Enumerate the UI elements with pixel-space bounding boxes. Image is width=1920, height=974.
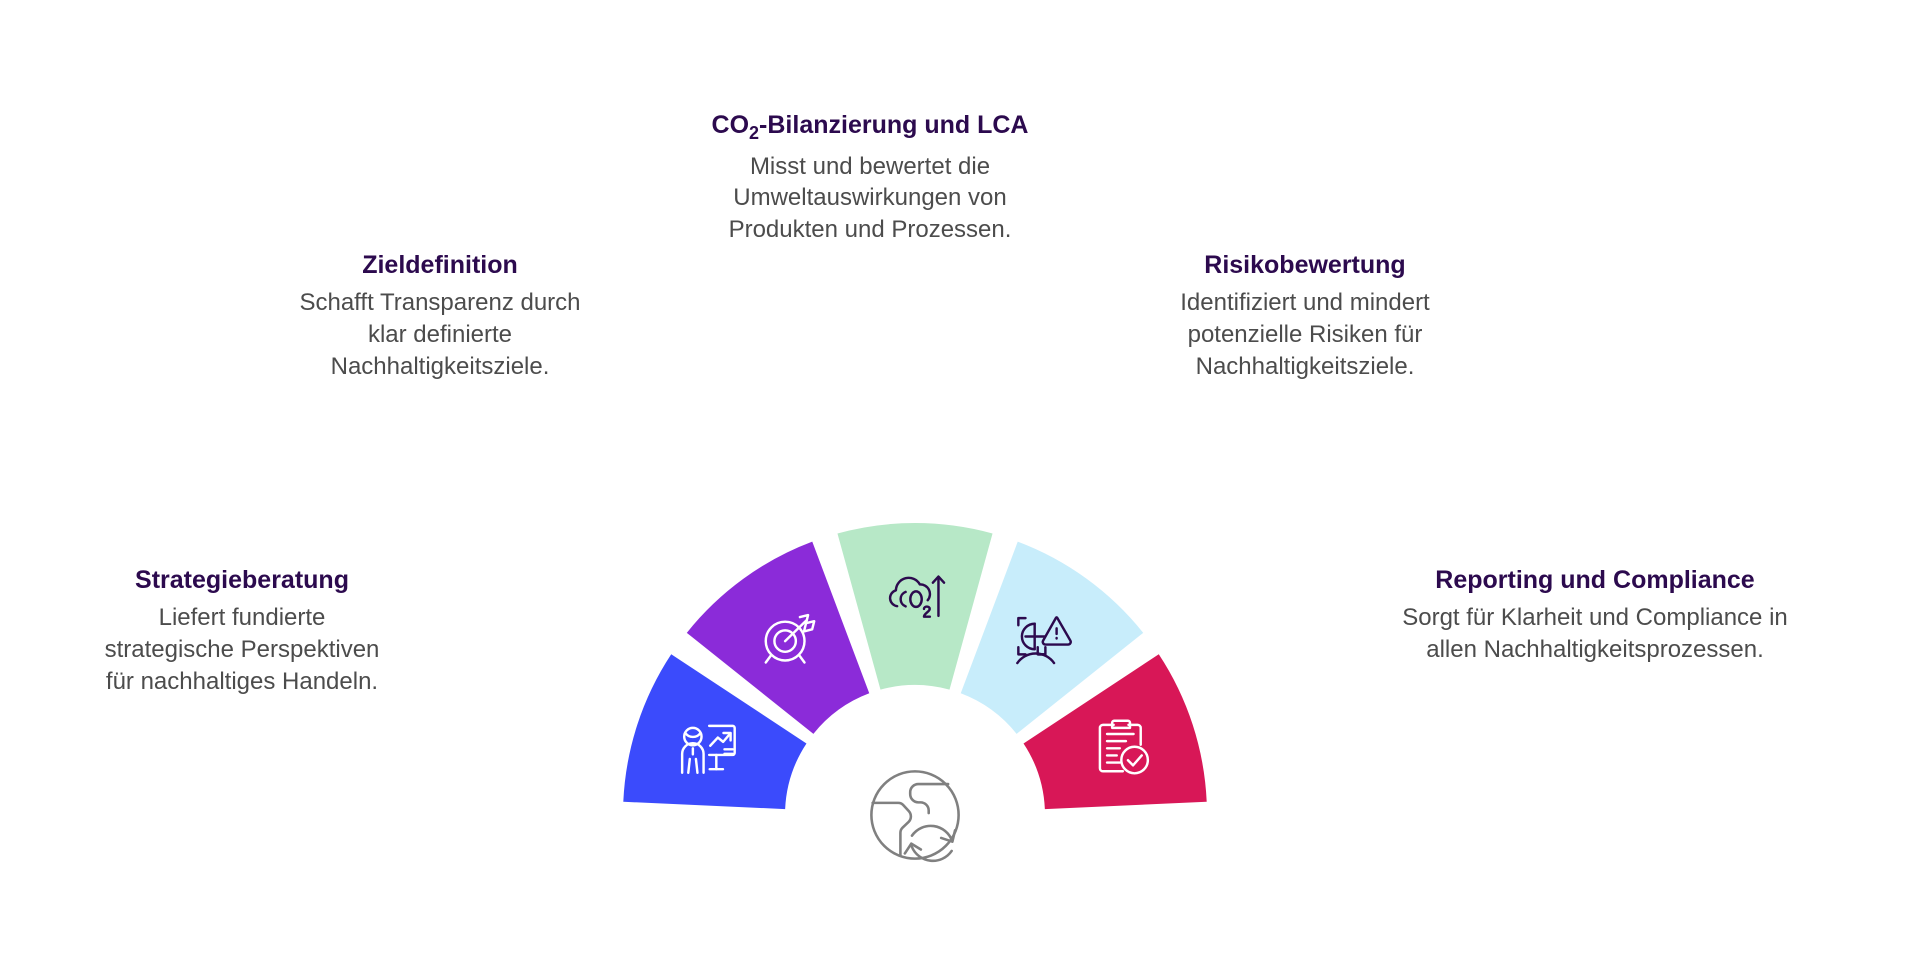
segment-label-co2-bilanzierung: CO2-Bilanzierung und LCA Misst und bewer… [700,110,1040,246]
segment-label-strategieberatung: Strategieberatung Liefert fundierte stra… [92,565,392,697]
segment-label-risikobewertung: Risikobewertung Identifiziert und minder… [1130,250,1480,382]
segment-layer [623,523,1206,809]
segment-title: Risikobewertung [1130,250,1480,281]
segment-label-zieldefinition: Zieldefinition Schafft Transparenz durch… [290,250,590,382]
segment-description: Misst und bewertet die Umweltauswirkunge… [700,151,1040,246]
segment-title: Reporting und Compliance [1395,565,1795,596]
globe-recycle-icon [871,771,958,860]
segment-description: Sorgt für Klarheit und Compliance in all… [1395,602,1795,665]
segment-description: Liefert fundierte strategische Perspekti… [92,602,392,697]
segment-description: Schafft Transparenz durch klar definiert… [290,287,590,382]
segment-title: Strategieberatung [92,565,392,596]
segment-title: CO2-Bilanzierung und LCA [700,110,1040,145]
infographic-canvas: Strategieberatung Liefert fundierte stra… [0,0,1920,974]
segment-label-reporting-compliance: Reporting und Compliance Sorgt für Klarh… [1395,565,1795,666]
segment-title: Zieldefinition [290,250,590,281]
segment-description: Identifiziert und mindert potenzielle Ri… [1130,287,1480,382]
